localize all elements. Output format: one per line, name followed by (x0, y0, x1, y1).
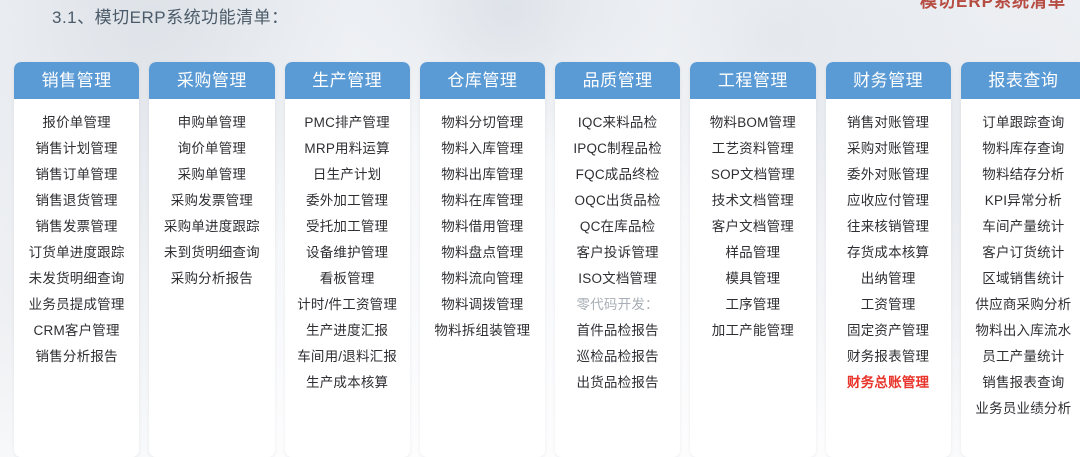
module-feature-item[interactable]: 模具管理 (692, 266, 813, 292)
module-column: 采购管理申购单管理询价单管理采购单管理采购发票管理采购单进度跟踪未到货明细查询采… (149, 62, 274, 457)
module-column: 销售管理报价单管理销售计划管理销售订单管理销售退货管理销售发票管理订货单进度跟踪… (14, 62, 139, 457)
module-feature-item[interactable]: 财务报表管理 (828, 344, 949, 370)
module-feature-item[interactable]: 往来核销管理 (828, 214, 949, 240)
module-column-body: PMC排产管理MRP用料运算日生产计划委外加工管理受托加工管理设备维护管理看板管… (285, 99, 410, 406)
module-feature-item[interactable]: 日生产计划 (287, 162, 408, 188)
module-feature-item[interactable]: 计时/件工资管理 (287, 292, 408, 318)
module-feature-item[interactable]: 订单跟踪查询 (963, 110, 1080, 136)
module-column-body: 销售对账管理采购对账管理委外对账管理应收应付管理往来核销管理存货成本核算出纳管理… (826, 99, 951, 406)
module-feature-item[interactable]: 物料借用管理 (422, 214, 543, 240)
module-column: 品质管理IQC来料品检IPQC制程品检FQC成品终检OQC出货品检QC在库品检客… (555, 62, 680, 457)
module-subsection-label: 零代码开发： (557, 292, 678, 318)
module-feature-item[interactable]: SOP文档管理 (692, 162, 813, 188)
module-feature-item[interactable]: 供应商采购分析 (963, 292, 1080, 318)
module-column-header[interactable]: 采购管理 (149, 62, 274, 99)
module-feature-item[interactable]: 员工产量统计 (963, 344, 1080, 370)
module-feature-item[interactable]: 设备维护管理 (287, 240, 408, 266)
module-column-body: IQC来料品检IPQC制程品检FQC成品终检OQC出货品检QC在库品检客户投诉管… (555, 99, 680, 406)
module-feature-item[interactable]: 物料出入库流水 (963, 318, 1080, 344)
module-feature-item[interactable]: IPQC制程品检 (557, 136, 678, 162)
module-feature-item[interactable]: 物料拆组装管理 (422, 318, 543, 344)
module-column-body: 物料分切管理物料入库管理物料出库管理物料在库管理物料借用管理物料盘点管理物料流向… (420, 99, 545, 354)
module-feature-item[interactable]: 受托加工管理 (287, 214, 408, 240)
module-feature-item[interactable]: 业务员业绩分析 (963, 396, 1080, 422)
module-feature-item[interactable]: 客户订货统计 (963, 240, 1080, 266)
module-column-header[interactable]: 销售管理 (14, 62, 139, 99)
module-feature-item[interactable]: 销售发票管理 (16, 214, 137, 240)
module-feature-item[interactable]: 工序管理 (692, 292, 813, 318)
module-feature-item[interactable]: 出货品检报告 (557, 370, 678, 396)
module-feature-item[interactable]: 报价单管理 (16, 110, 137, 136)
module-feature-item[interactable]: 物料调拨管理 (422, 292, 543, 318)
module-feature-item[interactable]: 销售计划管理 (16, 136, 137, 162)
module-column: 工程管理物料BOM管理工艺资料管理SOP文档管理技术文档管理客户文档管理样品管理… (690, 62, 815, 457)
module-column: 财务管理销售对账管理采购对账管理委外对账管理应收应付管理往来核销管理存货成本核算… (826, 62, 951, 457)
module-feature-item[interactable]: 询价单管理 (151, 136, 272, 162)
module-feature-item[interactable]: 工艺资料管理 (692, 136, 813, 162)
module-feature-item[interactable]: 看板管理 (287, 266, 408, 292)
module-column: 仓库管理物料分切管理物料入库管理物料出库管理物料在库管理物料借用管理物料盘点管理… (420, 62, 545, 457)
module-feature-item[interactable]: 物料盘点管理 (422, 240, 543, 266)
module-feature-item[interactable]: 工资管理 (828, 292, 949, 318)
module-feature-item[interactable]: QC在库品检 (557, 214, 678, 240)
module-feature-item[interactable]: 首件品检报告 (557, 318, 678, 344)
page-title: 3.1、模切ERP系统功能清单： (52, 3, 289, 28)
module-feature-item[interactable]: 采购对账管理 (828, 136, 949, 162)
module-feature-item[interactable]: 应收应付管理 (828, 188, 949, 214)
module-feature-item[interactable]: PMC排产管理 (287, 110, 408, 136)
module-column-body: 申购单管理询价单管理采购单管理采购发票管理采购单进度跟踪未到货明细查询采购分析报… (149, 99, 274, 302)
module-feature-item[interactable]: MRP用料运算 (287, 136, 408, 162)
module-feature-item[interactable]: 物料BOM管理 (692, 110, 813, 136)
module-column-header[interactable]: 生产管理 (285, 62, 410, 99)
module-feature-item[interactable]: 采购发票管理 (151, 188, 272, 214)
module-column-header[interactable]: 仓库管理 (420, 62, 545, 99)
module-feature-item[interactable]: 客户投诉管理 (557, 240, 678, 266)
module-feature-item[interactable]: 委外加工管理 (287, 188, 408, 214)
module-column-header[interactable]: 财务管理 (826, 62, 951, 99)
module-feature-item[interactable]: 销售退货管理 (16, 188, 137, 214)
module-columns-board: 销售管理报价单管理销售计划管理销售订单管理销售退货管理销售发票管理订货单进度跟踪… (14, 62, 1066, 457)
module-feature-item[interactable]: 未到货明细查询 (151, 240, 272, 266)
module-feature-item[interactable]: FQC成品终检 (557, 162, 678, 188)
module-feature-item[interactable]: 物料出库管理 (422, 162, 543, 188)
module-feature-item[interactable]: CRM客户管理 (16, 318, 137, 344)
module-feature-item[interactable]: 销售对账管理 (828, 110, 949, 136)
module-feature-item[interactable]: 物料在库管理 (422, 188, 543, 214)
module-feature-item[interactable]: 采购单进度跟踪 (151, 214, 272, 240)
module-column-body: 物料BOM管理工艺资料管理SOP文档管理技术文档管理客户文档管理样品管理模具管理… (690, 99, 815, 354)
module-feature-item[interactable]: 物料库存查询 (963, 136, 1080, 162)
module-feature-item[interactable]: 采购单管理 (151, 162, 272, 188)
module-feature-item[interactable]: 生产成本核算 (287, 370, 408, 396)
module-feature-item[interactable]: 出纳管理 (828, 266, 949, 292)
module-column-header[interactable]: 品质管理 (555, 62, 680, 99)
module-feature-item[interactable]: 样品管理 (692, 240, 813, 266)
module-feature-item[interactable]: 客户文档管理 (692, 214, 813, 240)
module-feature-item[interactable]: IQC来料品检 (557, 110, 678, 136)
module-feature-item[interactable]: 车间用/退料汇报 (287, 344, 408, 370)
module-feature-item[interactable]: OQC出货品检 (557, 188, 678, 214)
module-column: 生产管理PMC排产管理MRP用料运算日生产计划委外加工管理受托加工管理设备维护管… (285, 62, 410, 457)
module-feature-item[interactable]: 物料流向管理 (422, 266, 543, 292)
module-feature-item[interactable]: 固定资产管理 (828, 318, 949, 344)
module-feature-item[interactable]: 车间产量统计 (963, 214, 1080, 240)
module-feature-item[interactable]: 物料分切管理 (422, 110, 543, 136)
erp-function-list-page: 模切ERP系统清单 3.1、模切ERP系统功能清单： 销售管理报价单管理销售计划… (0, 0, 1080, 457)
module-feature-item[interactable]: 销售报表查询 (963, 370, 1080, 396)
module-feature-item[interactable]: 区域销售统计 (963, 266, 1080, 292)
module-feature-item[interactable]: 技术文档管理 (692, 188, 813, 214)
module-feature-item[interactable]: 业务员提成管理 (16, 292, 137, 318)
module-feature-item[interactable]: ISO文档管理 (557, 266, 678, 292)
module-feature-item[interactable]: 物料入库管理 (422, 136, 543, 162)
module-feature-item[interactable]: 生产进度汇报 (287, 318, 408, 344)
module-feature-item[interactable]: 委外对账管理 (828, 162, 949, 188)
module-column-body: 订单跟踪查询物料库存查询物料结存分析KPI异常分析车间产量统计客户订货统计区域销… (961, 99, 1080, 432)
module-column-header[interactable]: 报表查询 (961, 62, 1080, 99)
module-feature-item[interactable]: 未发货明细查询 (16, 266, 137, 292)
module-column: 报表查询订单跟踪查询物料库存查询物料结存分析KPI异常分析车间产量统计客户订货统… (961, 62, 1080, 457)
module-feature-item[interactable]: 申购单管理 (151, 110, 272, 136)
module-feature-item[interactable]: 采购分析报告 (151, 266, 272, 292)
module-feature-item[interactable]: 加工产能管理 (692, 318, 813, 344)
module-feature-item[interactable]: 巡检品检报告 (557, 344, 678, 370)
module-feature-item[interactable]: KPI异常分析 (963, 188, 1080, 214)
module-feature-item[interactable]: 存货成本核算 (828, 240, 949, 266)
module-column-body: 报价单管理销售计划管理销售订单管理销售退货管理销售发票管理订货单进度跟踪未发货明… (14, 99, 139, 380)
module-feature-item[interactable]: 订货单进度跟踪 (16, 240, 137, 266)
module-feature-item[interactable]: 销售订单管理 (16, 162, 137, 188)
module-feature-item[interactable]: 财务总账管理 (828, 370, 949, 396)
module-feature-item[interactable]: 销售分析报告 (16, 344, 137, 370)
cropped-top-heading-fragment: 模切ERP系统清单 (920, 0, 1066, 12)
module-feature-item[interactable]: 物料结存分析 (963, 162, 1080, 188)
module-column-header[interactable]: 工程管理 (690, 62, 815, 99)
